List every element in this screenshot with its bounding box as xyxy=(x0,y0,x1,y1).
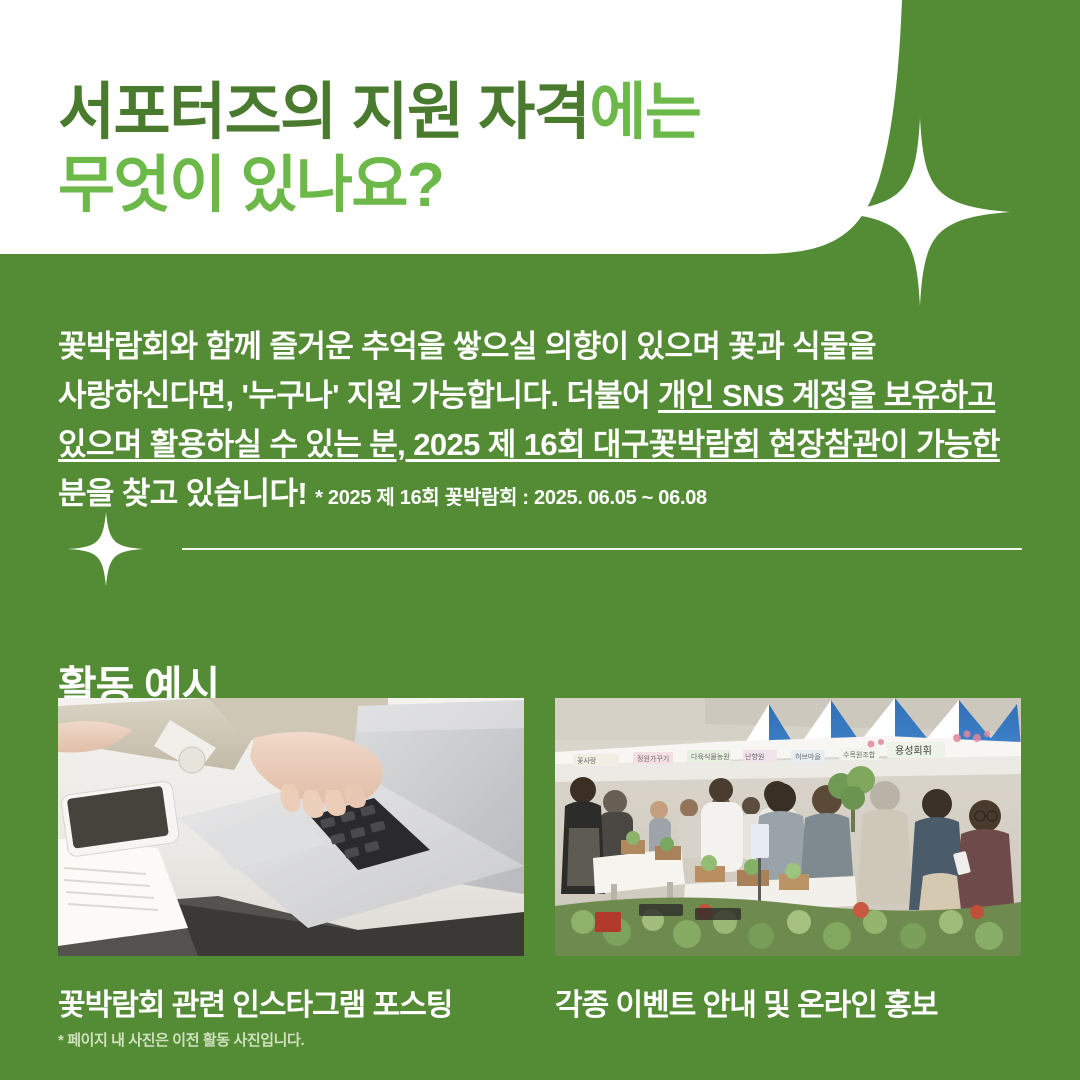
example-item: 꽃사랑 정원가꾸기 다육식물농원 난향원 허브마을 수목원조합 용성회휘 xyxy=(555,698,1021,1024)
svg-text:다육식물농원: 다육식물농원 xyxy=(691,752,730,761)
svg-text:난향원: 난향원 xyxy=(745,752,764,761)
infographic-card: 서포터즈의 지원 자격에는무엇이 있나요? 꽃박람회와 함께 즐거운 추억을 쌓… xyxy=(0,0,1080,1080)
example-caption: 각종 이벤트 안내 및 온라인 홍보 xyxy=(555,980,1021,1024)
body-footnote-inline: * 2025 제 16회 꽃박람회 : 2025. 06.05 ~ 06.08 xyxy=(315,487,707,509)
sparkle-icon xyxy=(68,512,144,586)
page-title: 서포터즈의 지원 자격에는무엇이 있나요? xyxy=(58,78,878,221)
header: 서포터즈의 지원 자격에는무엇이 있나요? xyxy=(0,0,1080,254)
page-title-line1-dark: 서포터즈의 지원 자격 xyxy=(58,78,589,147)
svg-text:수목원조합: 수목원조합 xyxy=(843,750,876,759)
flower-expo-crowd-photo: 꽃사랑 정원가꾸기 다육식물농원 난향원 허브마을 수목원조합 용성회휘 xyxy=(555,698,1021,956)
body-paragraph: 꽃박람회와 함께 즐거운 추억을 쌓으실 의향이 있으며 꽃과 식물을 사랑하신… xyxy=(58,323,1030,519)
divider xyxy=(0,512,1080,586)
laptop-typing-photo xyxy=(58,698,524,956)
page-title-line1-light: 에는 xyxy=(589,78,700,147)
page-title-line2: 무엇이 있나요? xyxy=(58,151,878,220)
svg-text:꽃사랑: 꽃사랑 xyxy=(577,756,597,765)
page-footnote: * 페이지 내 사진은 이전 활동 사진입니다. xyxy=(58,1029,304,1050)
svg-text:허브마을: 허브마을 xyxy=(795,752,821,761)
example-caption: 꽃박람회 관련 인스타그램 포스팅 xyxy=(58,980,524,1024)
svg-text:정원가꾸기: 정원가꾸기 xyxy=(637,754,669,763)
divider-line xyxy=(182,548,1022,550)
svg-text:용성회휘: 용성회휘 xyxy=(895,745,932,757)
body-text-part2: 분을 찾고 있습니다! xyxy=(58,476,307,511)
examples-grid: 꽃박람회 관련 인스타그램 포스팅 xyxy=(58,698,1024,1024)
example-item: 꽃박람회 관련 인스타그램 포스팅 xyxy=(58,698,524,1024)
